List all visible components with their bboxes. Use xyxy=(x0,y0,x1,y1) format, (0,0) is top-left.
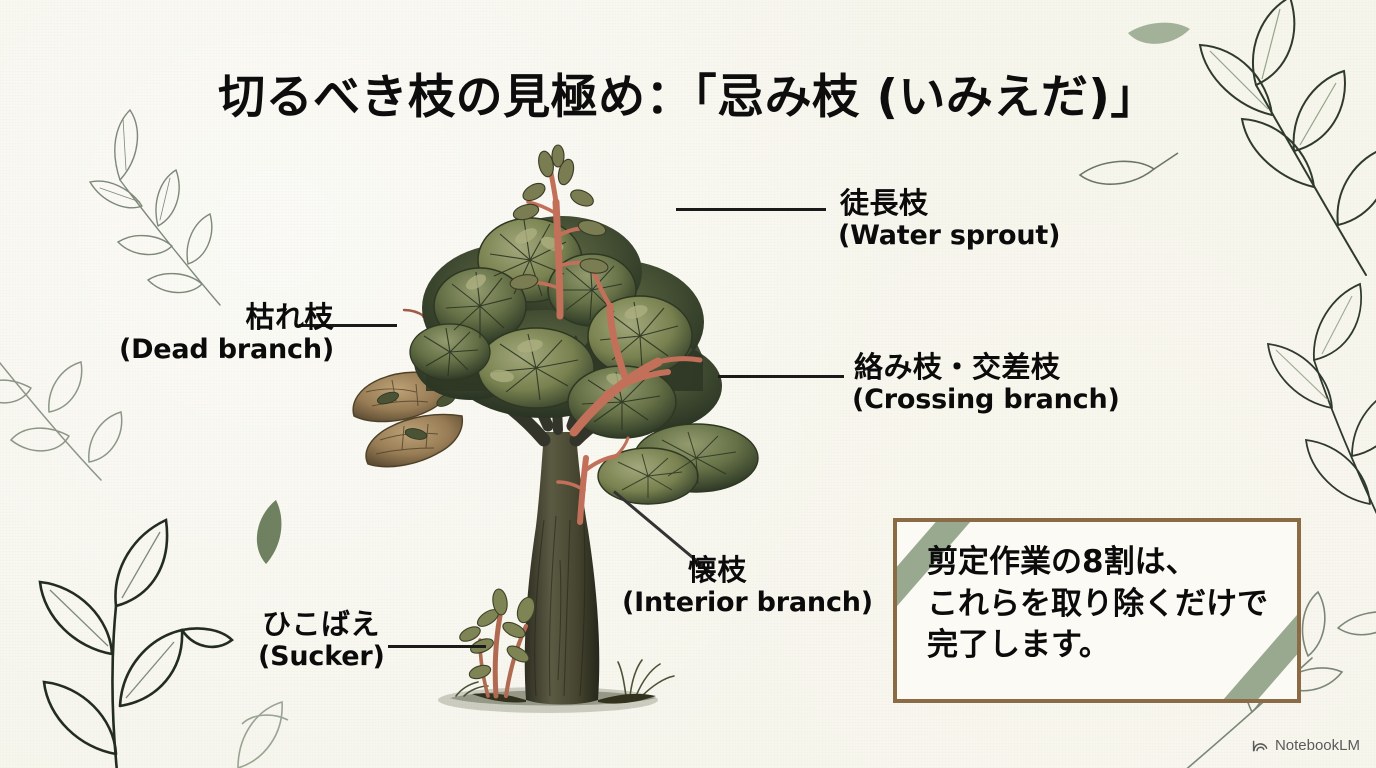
decorative-leaf-branch-bottom-left xyxy=(0,468,300,768)
label-crossing-branch: 絡み枝・交差枝 (Crossing branch) xyxy=(852,350,1120,416)
label-crossing-branch-en: (Crossing branch) xyxy=(852,384,1120,416)
watermark-label: NotebookLM xyxy=(1275,737,1360,754)
label-interior-branch-en: (Interior branch) xyxy=(622,587,873,619)
label-water-sprout-en: (Water sprout) xyxy=(838,220,1060,252)
slide-canvas: 切るべき枝の見極め：「忌み枝 (いみえだ)」 xyxy=(0,0,1376,768)
callout-text: 剪定作業の8割は、 これらを取り除くだけで 完了します。 xyxy=(897,522,1297,667)
label-sucker: ひこばえ (Sucker) xyxy=(258,607,385,673)
label-interior-branch: 懐枝 (Interior branch) xyxy=(622,553,873,619)
label-dead-branch-en: (Dead branch) xyxy=(119,334,334,366)
pruning-tree-illustration xyxy=(330,140,770,720)
callout-line-1: 剪定作業の8割は、 xyxy=(927,542,1297,584)
decorative-leaf-sprig-mid-right xyxy=(1146,230,1376,560)
page-title: 切るべき枝の見極め：「忌み枝 (いみえだ)」 xyxy=(0,58,1376,127)
label-crossing-branch-jp: 絡み枝・交差枝 xyxy=(852,350,1120,384)
label-interior-branch-jp: 懐枝 xyxy=(622,553,873,587)
leader-line-water-sprout xyxy=(676,208,826,211)
callout-line-3: 完了します。 xyxy=(927,625,1297,667)
callout-line-2: これらを取り除くだけで xyxy=(927,584,1297,626)
callout-box: 剪定作業の8割は、 これらを取り除くだけで 完了します。 xyxy=(893,518,1301,703)
notebooklm-watermark: NotebookLM xyxy=(1252,737,1360,754)
label-water-sprout: 徒長枝 (Water sprout) xyxy=(838,186,1060,252)
notebooklm-icon xyxy=(1252,738,1269,753)
label-sucker-en: (Sucker) xyxy=(258,641,385,673)
label-sucker-jp: ひこばえ xyxy=(258,607,385,641)
leader-line-crossing-branch xyxy=(718,375,844,378)
leader-line-sucker xyxy=(388,645,486,648)
decorative-leaf-branch-top-right xyxy=(1066,0,1376,305)
label-dead-branch: 枯れ枝 (Dead branch) xyxy=(119,300,334,366)
label-dead-branch-jp: 枯れ枝 xyxy=(119,300,334,334)
label-water-sprout-jp: 徒長枝 xyxy=(838,186,1060,220)
